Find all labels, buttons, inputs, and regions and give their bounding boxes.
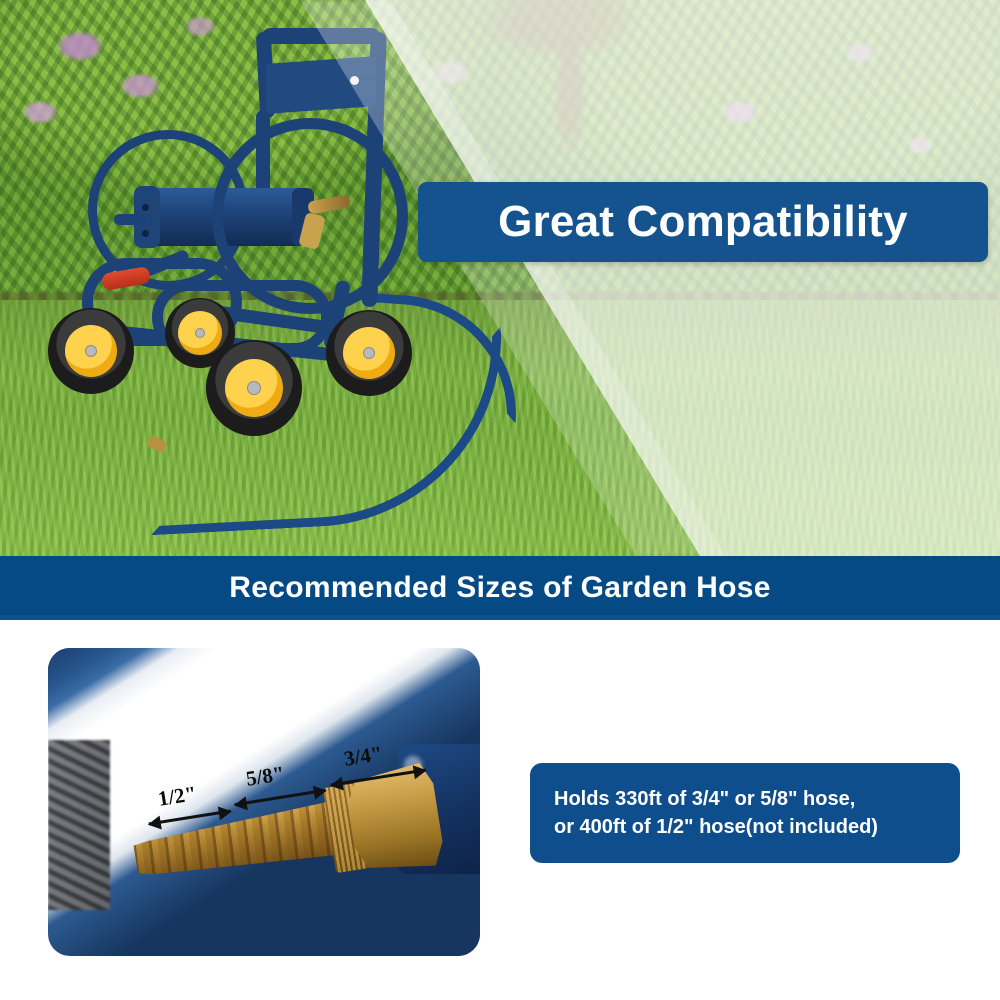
reel-crank xyxy=(114,214,146,225)
wheel-cap xyxy=(363,347,375,359)
wheel-cap xyxy=(247,381,261,395)
hose-reel-cart-product xyxy=(30,18,500,538)
cart-handle-plate xyxy=(266,56,376,114)
arrow-head-right xyxy=(313,784,328,800)
hero-headline-banner: Great Compatibility xyxy=(418,182,988,262)
wheel-cap xyxy=(195,328,205,338)
photo-tire-edge xyxy=(48,740,110,910)
arrow-head-right xyxy=(218,804,233,820)
bottom-section: 1/2" 5/8" 3/4" Holds 330ft of 3/4" or 5/… xyxy=(0,620,1000,1000)
capacity-callout-line-2: or 400ft of 1/2" hose(not included) xyxy=(554,813,936,841)
wheel-cap xyxy=(85,345,97,357)
hose-fitting-photo: 1/2" 5/8" 3/4" xyxy=(48,648,480,956)
wheel-front-left xyxy=(206,340,302,436)
hero-headline-text: Great Compatibility xyxy=(498,197,908,247)
cart-handle-bar xyxy=(262,28,380,44)
capacity-callout-box: Holds 330ft of 3/4" or 5/8" hose, or 400… xyxy=(530,763,960,863)
product-marketing-image: Great Compatibility Recommended Sizes of… xyxy=(0,0,1000,1000)
arrow-head-left xyxy=(233,796,248,812)
wheel-front-right xyxy=(326,310,412,396)
reel-drum-bolt-top xyxy=(142,204,149,211)
section-title-band: Recommended Sizes of Garden Hose xyxy=(0,556,1000,620)
hero-photo: Great Compatibility xyxy=(0,0,1000,556)
cart-handle-plate-hole xyxy=(350,76,359,85)
arrow-head-right xyxy=(413,763,428,779)
capacity-callout-line-1: Holds 330ft of 3/4" or 5/8" hose, xyxy=(554,785,936,813)
section-title-text: Recommended Sizes of Garden Hose xyxy=(229,571,770,605)
reel-drum-bolt-bottom xyxy=(142,230,149,237)
arrow-head-left xyxy=(147,816,162,832)
arrow-head-left xyxy=(329,777,344,793)
wheel-rear-left xyxy=(48,308,134,394)
